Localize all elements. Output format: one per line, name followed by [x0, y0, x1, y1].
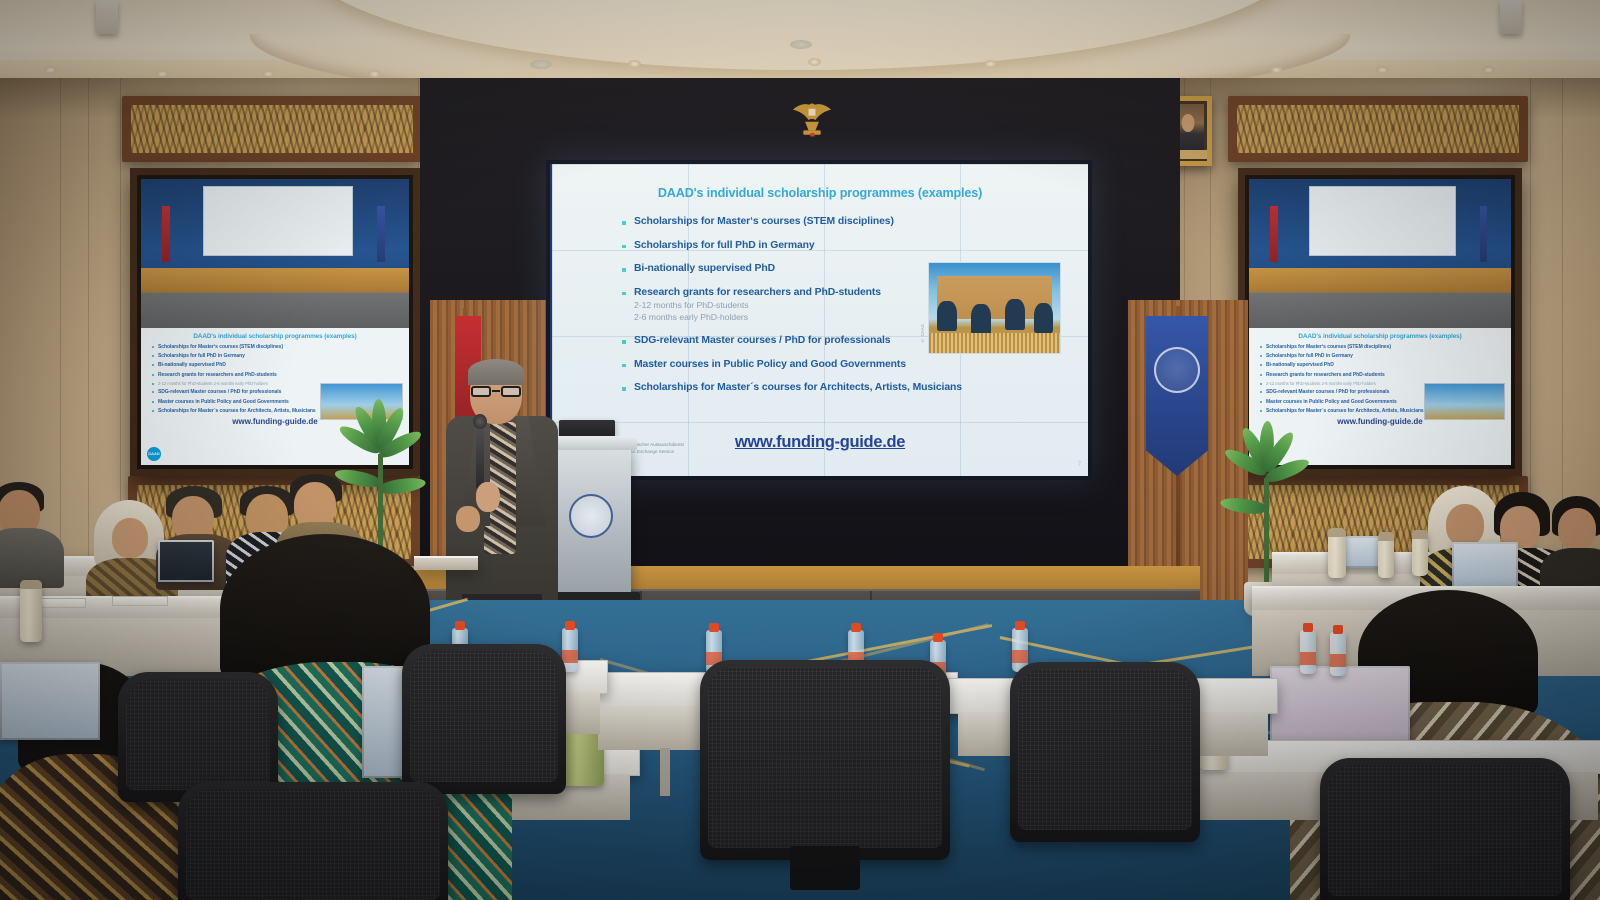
audience-tumbler-6 — [1412, 530, 1428, 576]
slide-photo-credit: © DAAD — [920, 324, 925, 343]
podium-emblem — [569, 494, 613, 538]
audience-tumbler-1 — [20, 580, 42, 642]
ceiling-pendant-light-left — [96, 0, 118, 34]
mini-slide-title-left: DAAD's individual scholarship programmes… — [148, 333, 402, 340]
garuda-pancasila-emblem — [786, 92, 838, 148]
gold-frieze-left — [122, 96, 422, 162]
mini-bullet: Scholarships for Master‘s courses (STEM … — [1266, 344, 1504, 350]
mini-bullet: Bi-nationally supervised PhD — [1266, 362, 1504, 368]
slide-bullet-1: Scholarships for Master‘s courses (STEM … — [634, 216, 1088, 227]
presenter-hand-left — [476, 482, 500, 512]
slide-canvas: DAAD's individual scholarship programmes… — [550, 164, 1088, 476]
left-display-camera-feed — [141, 179, 409, 328]
slide-bullet-7: Scholarships for Master´s courses for Ar… — [634, 382, 1088, 393]
presenter-glasses — [471, 386, 521, 398]
audience-laptop-3 — [0, 662, 100, 740]
side-cabinet — [414, 556, 478, 570]
audience-tumbler-4 — [1328, 528, 1346, 578]
gold-frieze-right — [1228, 96, 1528, 162]
slide-bullet-6: Master courses in Public Policy and Good… — [634, 359, 1088, 370]
mini-bullet: Research grants for researchers and PhD-… — [158, 372, 402, 378]
main-presentation-screen: DAAD's individual scholarship programmes… — [546, 160, 1092, 480]
right-display-camera-feed — [1249, 179, 1511, 328]
chair-center-1-base — [790, 846, 860, 890]
mini-bullet: Scholarships for full PhD in Germany — [1266, 353, 1504, 359]
downlight-8 — [1270, 66, 1283, 74]
downlight-7 — [984, 60, 997, 68]
right-wall-display: DAAD's individual scholarship programmes… — [1238, 168, 1522, 476]
downlight-6 — [808, 58, 821, 66]
slide-bullet-2: Scholarships for full PhD in Germany — [634, 240, 1088, 251]
center-table-1-leg-left — [660, 748, 670, 796]
chair-foreground-right — [1320, 758, 1570, 900]
nameplate-left-2 — [112, 596, 168, 606]
water-bottle-8 — [1330, 632, 1346, 676]
mini-daad-logo: DAAD — [147, 447, 161, 461]
downlight-1 — [44, 66, 57, 74]
ceiling-speaker-left — [530, 60, 552, 69]
slide-title: DAAD's individual scholarship programmes… — [552, 164, 1088, 200]
slide-page-number: 7 — [1078, 462, 1081, 468]
chair-center-1 — [700, 660, 950, 860]
university-flag-emblem — [1154, 347, 1200, 393]
chair-center-2 — [1010, 662, 1200, 842]
mini-slide-photo — [1424, 383, 1505, 420]
slide-photo-students — [928, 262, 1061, 354]
handheld-microphone — [476, 424, 484, 490]
presenter-hand-right — [456, 506, 480, 532]
mini-bullet: Bi-nationally supervised PhD — [158, 362, 402, 368]
audience-person-1 — [0, 482, 62, 574]
chair-foreground-left — [178, 782, 448, 900]
ceiling-speaker-right — [790, 40, 812, 49]
downlight-4 — [368, 70, 381, 78]
audience-person-8 — [1548, 496, 1600, 590]
audience-tumbler-5 — [1378, 532, 1394, 578]
downlight-3 — [262, 70, 275, 78]
mini-bullet: Scholarships for full PhD in Germany — [158, 353, 402, 359]
mini-slide-title-right: DAAD's individual scholarship programmes… — [1256, 333, 1504, 340]
conference-hall-photo: DAAD's individual scholarship programmes… — [0, 0, 1600, 900]
university-flag — [1146, 316, 1208, 476]
mini-bullet: Scholarships for Master‘s courses (STEM … — [158, 344, 402, 350]
audience-laptop-4 — [1452, 542, 1518, 588]
downlight-9 — [1376, 66, 1389, 74]
ceiling-pendant-light-right — [1500, 0, 1522, 34]
mini-bullet: Research grants for researchers and PhD-… — [1266, 372, 1504, 378]
chair-center-3 — [402, 644, 566, 794]
downlight-10 — [1482, 66, 1495, 74]
water-bottle-7 — [1300, 630, 1316, 674]
downlight-5 — [628, 60, 641, 68]
downlight-2 — [156, 70, 169, 78]
